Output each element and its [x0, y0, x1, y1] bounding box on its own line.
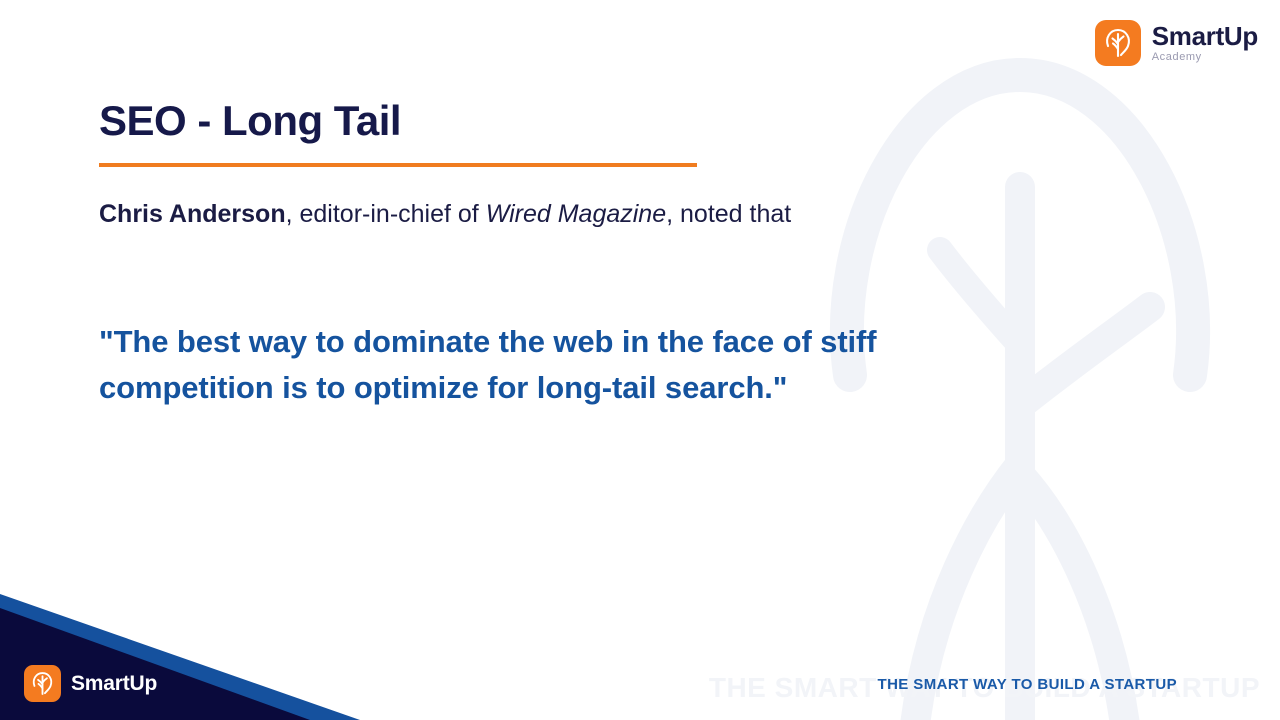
header-logo: SmartUp Academy	[1095, 20, 1258, 66]
header-logo-subtitle: Academy	[1152, 52, 1258, 63]
footer-tagline: THE SMART WAY TO BUILD A STARTUP	[878, 676, 1177, 693]
attribution-role: , editor-in-chief of	[286, 200, 486, 228]
attribution-name: Chris Anderson	[99, 200, 286, 228]
footer-logo: SmartUp	[24, 665, 157, 702]
header-logo-name: SmartUp	[1152, 23, 1258, 50]
header-logo-wordmark: SmartUp Academy	[1152, 23, 1258, 63]
smartup-logo-mark-header	[1095, 20, 1141, 66]
title-underline-rule	[99, 163, 697, 167]
attribution-publication: Wired Magazine	[486, 200, 666, 228]
smartup-logo-mark-footer	[24, 665, 61, 702]
slide-canvas: SmartUp Academy SEO - Long Tail Chris An…	[0, 0, 1280, 720]
quote-text: "The best way to dominate the web in the…	[99, 319, 1049, 411]
attribution-line: Chris Anderson, editor-in-chief of Wired…	[99, 199, 791, 230]
attribution-suffix: , noted that	[666, 200, 791, 228]
footer-logo-name: SmartUp	[71, 672, 157, 696]
page-title: SEO - Long Tail	[99, 97, 401, 145]
